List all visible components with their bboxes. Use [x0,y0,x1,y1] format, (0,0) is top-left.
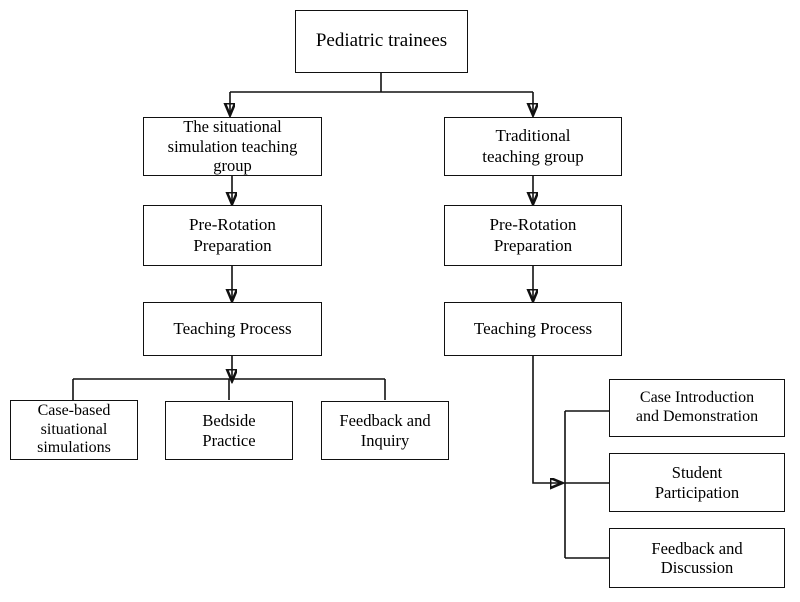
node-traditional-teaching-group[interactable]: Traditional teaching group [444,117,622,176]
node-case-introduction-and-demonstration[interactable]: Case Introduction and Demonstration [609,379,785,437]
node-traditional-teaching-group-label: Traditional teaching group [449,126,617,166]
node-teaching-process-right[interactable]: Teaching Process [444,302,622,356]
edge-process-right-route [533,356,562,483]
node-feedback-and-discussion-label: Feedback and Discussion [614,539,780,578]
node-situational-simulation-teaching-group-label: The situational simulation teaching grou… [148,117,317,175]
node-teaching-process-right-label: Teaching Process [449,319,617,339]
node-pediatric-trainees-label: Pediatric trainees [300,30,463,52]
node-bedside-practice[interactable]: Bedside Practice [165,401,293,460]
node-pre-rotation-preparation-left[interactable]: Pre-Rotation Preparation [143,205,322,266]
node-student-participation[interactable]: Student Participation [609,453,785,512]
node-bedside-practice-label: Bedside Practice [170,411,288,450]
node-situational-simulation-teaching-group[interactable]: The situational simulation teaching grou… [143,117,322,176]
node-pre-rotation-preparation-left-label: Pre-Rotation Preparation [148,215,317,255]
node-pre-rotation-preparation-right[interactable]: Pre-Rotation Preparation [444,205,622,266]
node-student-participation-label: Student Participation [614,463,780,502]
flowchart-canvas: Pediatric trainees The situational simul… [0,0,800,602]
node-teaching-process-left[interactable]: Teaching Process [143,302,322,356]
node-feedback-and-inquiry-label: Feedback and Inquiry [326,411,444,450]
node-case-based-situational-simulations-label: Case-based situational simulations [15,402,133,459]
node-case-introduction-and-demonstration-label: Case Introduction and Demonstration [614,389,780,427]
node-pediatric-trainees[interactable]: Pediatric trainees [295,10,468,73]
node-pre-rotation-preparation-right-label: Pre-Rotation Preparation [449,215,617,255]
node-case-based-situational-simulations[interactable]: Case-based situational simulations [10,400,138,460]
node-teaching-process-left-label: Teaching Process [148,319,317,339]
node-feedback-and-discussion[interactable]: Feedback and Discussion [609,528,785,588]
node-feedback-and-inquiry[interactable]: Feedback and Inquiry [321,401,449,460]
